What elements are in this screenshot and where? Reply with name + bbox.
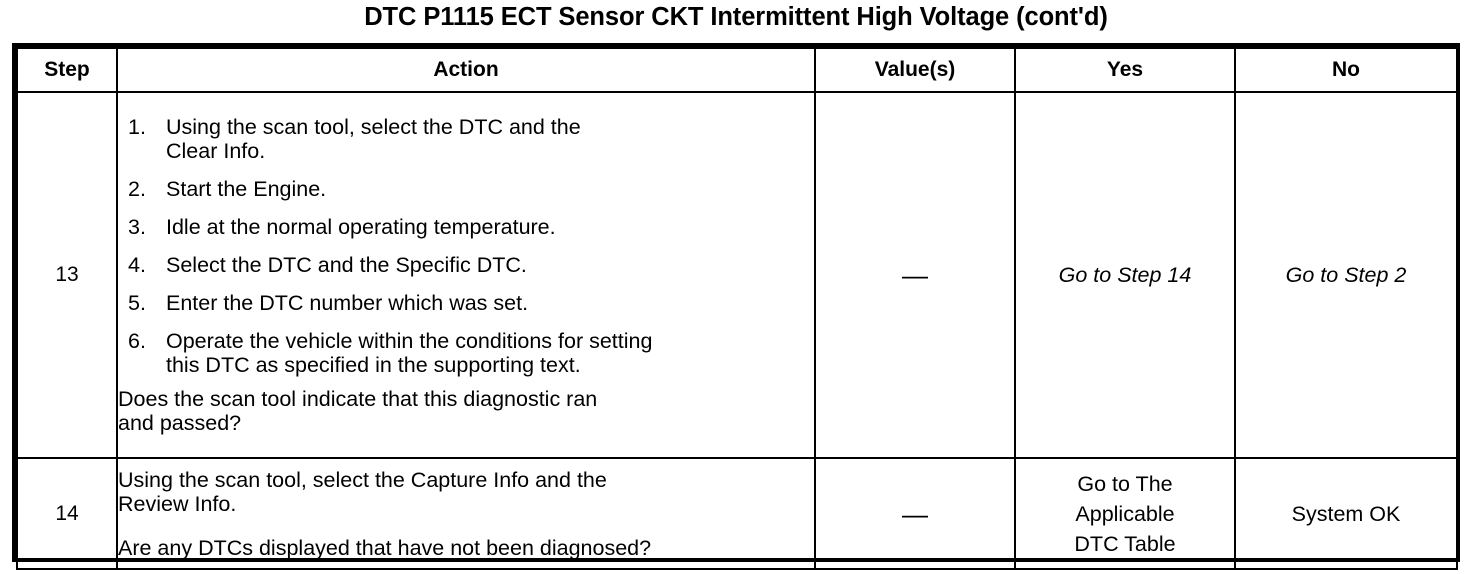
list-item: 4. Select the DTC and the Specific DTC. <box>118 253 814 277</box>
yes-result-line3: DTC Table <box>1016 529 1234 559</box>
column-header-no: No <box>1235 48 1457 92</box>
column-header-step: Step <box>17 48 117 92</box>
table-row: 14 Using the scan tool, select the Captu… <box>17 458 1457 569</box>
no-result-text: Go to Step 2 <box>1286 263 1407 287</box>
list-item: 3. Idle at the normal operating temperat… <box>118 215 814 239</box>
action-question-line1: Does the scan tool indicate that this di… <box>118 387 814 411</box>
list-item-text: Idle at the normal operating temperature… <box>166 215 814 239</box>
column-header-value: Value(s) <box>815 48 1015 92</box>
step-number: 14 <box>17 458 117 569</box>
list-item-number: 4. <box>128 253 158 277</box>
yes-result-cell: Go to The Applicable DTC Table <box>1015 458 1235 569</box>
list-item-line1: Start the Engine. <box>166 177 326 201</box>
list-item: 6. Operate the vehicle within the condit… <box>118 329 814 377</box>
list-item: 1. Using the scan tool, select the DTC a… <box>118 115 814 163</box>
no-result-text: System OK <box>1236 499 1456 529</box>
no-result-cell: System OK <box>1235 458 1457 569</box>
list-item-line1: Idle at the normal operating temperature… <box>166 215 556 239</box>
value-cell: — <box>815 458 1015 569</box>
table-header: Step Action Value(s) Yes No <box>17 48 1457 92</box>
value-cell: — <box>815 92 1015 458</box>
list-item-line1: Operate the vehicle within the condition… <box>166 329 652 353</box>
no-result-cell: Go to Step 2 <box>1235 92 1457 458</box>
action-content: 1. Using the scan tool, select the DTC a… <box>117 92 815 458</box>
action-question-line2: and passed? <box>118 411 814 435</box>
yes-result-line1: Go to The <box>1016 469 1234 499</box>
diagnostic-table: Step Action Value(s) Yes No 13 1. <box>16 47 1458 570</box>
list-item-line1: Select the DTC and the Specific DTC. <box>166 253 527 277</box>
yes-result-line2: Applicable <box>1016 499 1234 529</box>
action-question-line1: Are any DTCs displayed that have not bee… <box>118 536 814 560</box>
table-row: 13 1. Using the scan tool, select the DT… <box>17 92 1457 458</box>
column-header-yes: Yes <box>1015 48 1235 92</box>
list-item-number: 1. <box>128 115 158 139</box>
action-question: Does the scan tool indicate that this di… <box>118 387 814 435</box>
header-row: Step Action Value(s) Yes No <box>17 48 1457 92</box>
diagnostic-table-wrapper: Step Action Value(s) Yes No 13 1. <box>12 43 1460 562</box>
action-content: Using the scan tool, select the Capture … <box>117 458 815 569</box>
list-item-number: 3. <box>128 215 158 239</box>
list-item-number: 2. <box>128 177 158 201</box>
action-statement-line1: Using the scan tool, select the Capture … <box>118 468 814 492</box>
page-root: DTC P1115 ECT Sensor CKT Intermittent Hi… <box>0 0 1472 574</box>
yes-result-text: Go to Step 14 <box>1059 263 1192 287</box>
list-item-line2: this DTC as specified in the supporting … <box>166 353 814 377</box>
yes-result-cell: Go to Step 14 <box>1015 92 1235 458</box>
list-item-text: Enter the DTC number which was set. <box>166 291 814 315</box>
action-step-list: 1. Using the scan tool, select the DTC a… <box>118 115 814 377</box>
list-item-text: Start the Engine. <box>166 177 814 201</box>
list-item-text: Operate the vehicle within the condition… <box>166 329 814 377</box>
list-item-number: 6. <box>128 329 158 353</box>
list-item-line2: Clear Info. <box>166 139 814 163</box>
list-item: 2. Start the Engine. <box>118 177 814 201</box>
table-body: 13 1. Using the scan tool, select the DT… <box>17 92 1457 569</box>
action-statement-line2: Review Info. <box>118 492 814 516</box>
action-statement: Using the scan tool, select the Capture … <box>118 468 814 516</box>
step-number: 13 <box>17 92 117 458</box>
list-item-line1: Using the scan tool, select the DTC and … <box>166 115 581 139</box>
page-title: DTC P1115 ECT Sensor CKT Intermittent Hi… <box>0 2 1472 32</box>
list-item: 5. Enter the DTC number which was set. <box>118 291 814 315</box>
list-item-line1: Enter the DTC number which was set. <box>166 291 528 315</box>
action-question: Are any DTCs displayed that have not bee… <box>118 536 814 560</box>
column-header-action: Action <box>117 48 815 92</box>
list-item-text: Using the scan tool, select the DTC and … <box>166 115 814 163</box>
list-item-number: 5. <box>128 291 158 315</box>
list-item-text: Select the DTC and the Specific DTC. <box>166 253 814 277</box>
